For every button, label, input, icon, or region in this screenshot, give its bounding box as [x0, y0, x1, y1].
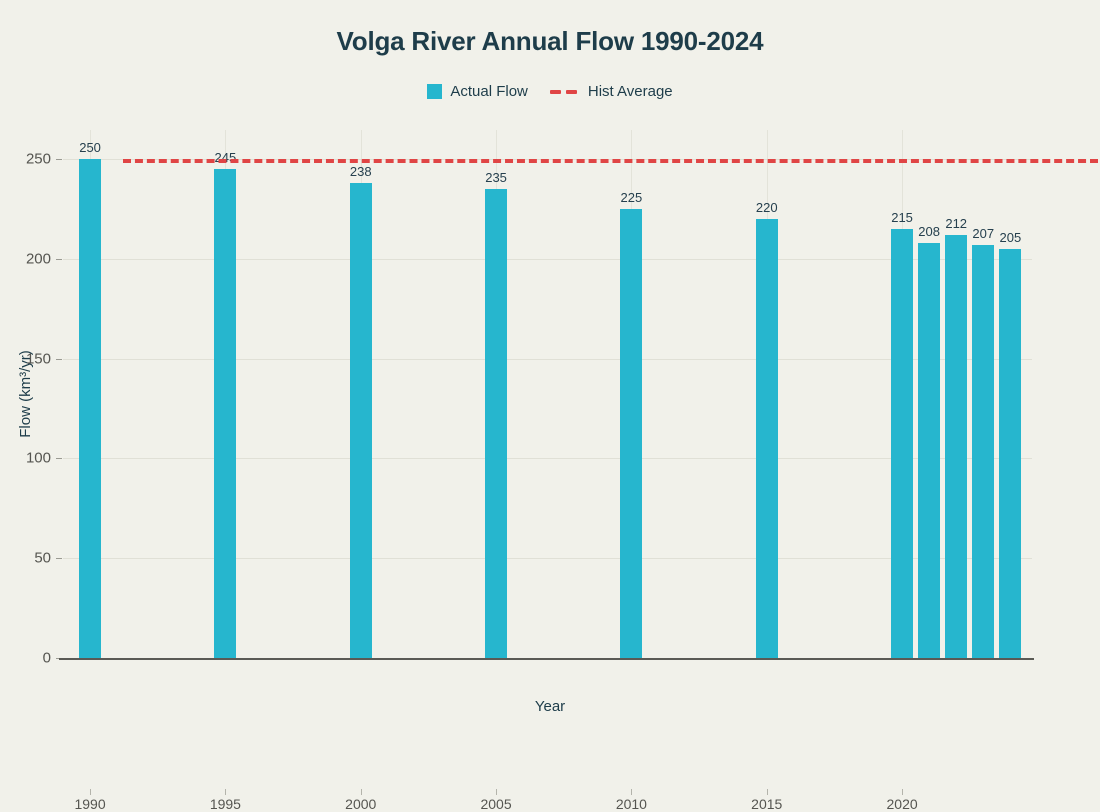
x-axis-tick-label: 2015 — [727, 796, 807, 812]
bar-value-label: 205 — [999, 230, 1021, 245]
bar-value-label: 225 — [621, 190, 643, 205]
gridline-horizontal — [63, 359, 1032, 360]
bar-value-label: 220 — [756, 200, 778, 215]
bar[interactable] — [485, 189, 507, 658]
legend-dashed-line-swatch-icon — [550, 84, 580, 99]
y-axis-tick-mark — [56, 159, 62, 160]
bar-value-label: 207 — [972, 226, 994, 241]
bar[interactable] — [79, 159, 101, 658]
hist-average-line — [123, 159, 1098, 163]
chart-legend: Actual Flow Hist Average — [0, 84, 1100, 99]
x-axis-tick-mark — [631, 789, 632, 795]
legend-label-hist-average: Hist Average — [588, 84, 673, 99]
x-axis-tick-label: 1990 — [50, 796, 130, 812]
legend-item-hist-average[interactable]: Hist Average — [550, 84, 673, 99]
y-axis-label: Flow (km³/yr) — [17, 130, 37, 658]
legend-label-actual-flow: Actual Flow — [450, 84, 528, 99]
bar[interactable] — [918, 243, 940, 658]
x-axis-tick-label: 2020 — [862, 796, 942, 812]
y-axis-tick-mark — [56, 458, 62, 459]
x-axis-tick-label: 2000 — [321, 796, 401, 812]
legend-item-actual-flow[interactable]: Actual Flow — [427, 84, 528, 99]
bar-value-label: 250 — [79, 140, 101, 155]
bar[interactable] — [891, 229, 913, 658]
y-axis-tick-label: 100 — [0, 450, 51, 467]
bar-value-label: 215 — [891, 210, 913, 225]
y-axis-tick-label: 150 — [0, 350, 51, 367]
bar-value-label: 238 — [350, 164, 372, 179]
bar[interactable] — [620, 209, 642, 658]
bar[interactable] — [214, 169, 236, 658]
x-axis-tick-mark — [225, 789, 226, 795]
bar-value-label: 235 — [485, 170, 507, 185]
y-axis-tick-label: 250 — [0, 151, 51, 168]
bar[interactable] — [999, 249, 1021, 658]
chart-title: Volga River Annual Flow 1990-2024 — [0, 26, 1100, 57]
y-axis-tick-label: 0 — [0, 650, 51, 667]
x-axis-tick-label: 2005 — [456, 796, 536, 812]
y-axis-tick-mark — [56, 558, 62, 559]
bar-value-label: 208 — [918, 224, 940, 239]
x-axis-tick-mark — [767, 789, 768, 795]
x-axis-line — [59, 658, 1034, 660]
gridline-horizontal — [63, 458, 1032, 459]
bar[interactable] — [756, 219, 778, 658]
y-axis-tick-mark — [56, 259, 62, 260]
bar[interactable] — [350, 183, 372, 658]
bar[interactable] — [945, 235, 967, 658]
y-axis-tick-mark — [56, 359, 62, 360]
gridline-horizontal — [63, 558, 1032, 559]
bar[interactable] — [972, 245, 994, 658]
x-axis-tick-mark — [902, 789, 903, 795]
x-axis-tick-label: 2010 — [591, 796, 671, 812]
x-axis-tick-mark — [90, 789, 91, 795]
legend-bar-swatch-icon — [427, 84, 442, 99]
bar-value-label: 212 — [945, 216, 967, 231]
x-axis-tick-mark — [496, 789, 497, 795]
y-axis-tick-label: 200 — [0, 250, 51, 267]
x-axis-tick-label: 1995 — [185, 796, 265, 812]
y-axis-tick-label: 50 — [0, 550, 51, 567]
x-axis-label: Year — [0, 698, 1100, 715]
chart-container: Volga River Annual Flow 1990-2024 Actual… — [0, 0, 1100, 732]
gridline-horizontal — [63, 259, 1032, 260]
x-axis-tick-mark — [361, 789, 362, 795]
plot-area: Flow (km³/yr) 050100150200250 1990199520… — [63, 130, 1032, 658]
